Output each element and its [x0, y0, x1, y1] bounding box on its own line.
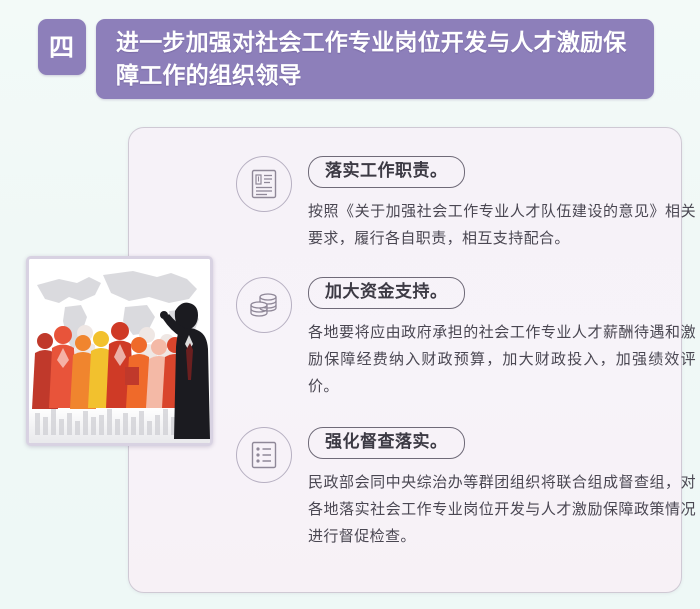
illustration-frame	[26, 256, 213, 446]
section-1-body: 落实工作职责。 按照《关于加强社会工作专业人才队伍建设的意见》相关要求，履行各自…	[308, 156, 696, 252]
section-3-label: 强化督查落实。	[308, 427, 465, 459]
header-title-box: 进一步加强对社会工作专业岗位开发与人才激励保障工作的组织领导	[96, 19, 654, 99]
section-2-label: 加大资金支持。	[308, 277, 465, 309]
business-people-world-map-illustration	[29, 259, 210, 443]
section-1-label: 落实工作职责。	[308, 156, 465, 188]
section-2-body: 加大资金支持。 各地要将应由政府承担的社会工作专业人才薪酬待遇和激励保障经费纳入…	[308, 277, 696, 400]
coins-stack-icon	[236, 277, 292, 333]
page-title: 进一步加强对社会工作专业岗位开发与人才激励保障工作的组织领导	[116, 27, 642, 93]
section-1-text: 按照《关于加强社会工作专业人才队伍建设的意见》相关要求，履行各自职责，相互支持配…	[308, 198, 696, 252]
checklist-icon	[236, 427, 292, 483]
section-number-badge: 四	[38, 19, 86, 75]
section-number-label: 四	[38, 19, 86, 75]
section-3-text: 民政部会同中央综治办等群团组织将联合组成督查组，对各地落实社会工作专业岗位开发与…	[308, 469, 696, 550]
section-3-body: 强化督查落实。 民政部会同中央综治办等群团组织将联合组成督查组，对各地落实社会工…	[308, 427, 696, 550]
section-2-text: 各地要将应由政府承担的社会工作专业人才薪酬待遇和激励保障经费纳入财政预算，加大财…	[308, 319, 696, 400]
page-header: 四 进一步加强对社会工作专业岗位开发与人才激励保障工作的组织领导	[0, 0, 700, 112]
document-icon	[236, 156, 292, 212]
